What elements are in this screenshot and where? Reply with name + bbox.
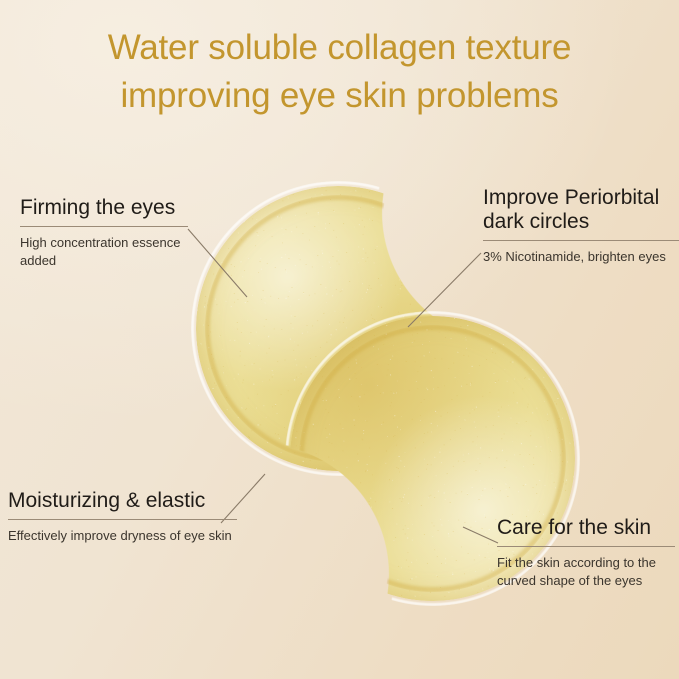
callout-heading: Firming the eyes — [20, 196, 220, 220]
callout-firming-the-eyes: Firming the eyes High concentration esse… — [20, 196, 220, 269]
callout-subtext: High concentration essence added — [20, 234, 220, 269]
callout-subtext: Effectively improve dryness of eye skin — [8, 527, 248, 545]
callout-care-for-the-skin: Care for the skin Fit the skin according… — [497, 516, 679, 589]
callout-heading: Care for the skin — [497, 516, 679, 540]
callout-rule — [497, 546, 675, 547]
callout-rule — [20, 226, 188, 227]
callout-moisturizing-elastic: Moisturizing & elastic Effectively impro… — [8, 489, 248, 545]
callout-rule — [8, 519, 237, 520]
callout-rule — [483, 240, 679, 241]
callout-subtext: Fit the skin according to the curved sha… — [497, 554, 679, 589]
callout-heading: Improve Periorbital dark circles — [483, 186, 679, 234]
product-infographic: Water soluble collagen texture improving… — [0, 0, 679, 679]
callout-heading: Moisturizing & elastic — [8, 489, 248, 513]
callout-subtext: 3% Nicotinamide, brighten eyes — [483, 248, 679, 266]
callout-improve-dark-circles: Improve Periorbital dark circles 3% Nico… — [483, 186, 679, 266]
